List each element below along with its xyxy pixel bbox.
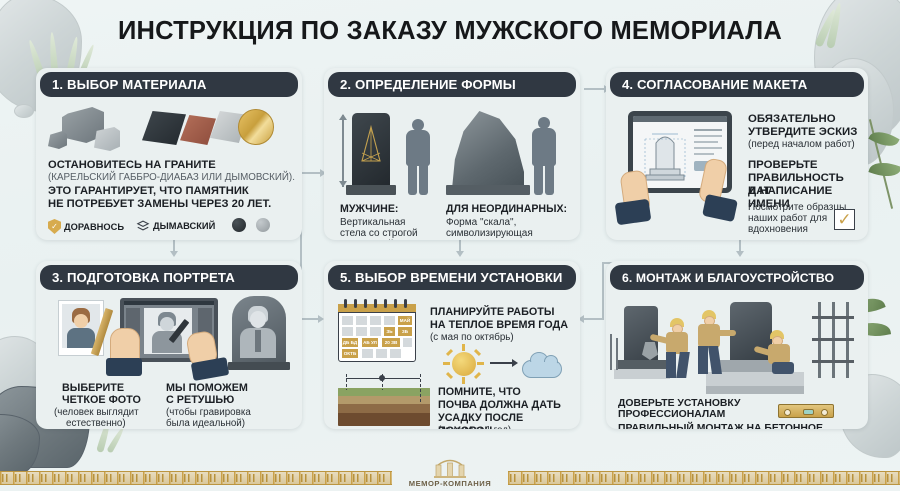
panel-material-body: ОСТАНОВИТЕСЬ НА ГРАНИТЕ (КАРЕЛЬСКИЙ ГАББ… — [36, 97, 302, 240]
calendar-cell-4: ДБ БД — [342, 338, 358, 347]
badge-dymavskiy[interactable]: ДЫМАВСКИЙ — [136, 219, 215, 232]
panel-portrait-body: ВЫБЕРИТЕ ЧЕТКОЕ ФОТО (человек выглядит е… — [36, 290, 302, 429]
panel-timing-body: МАЙ ЗЬ ЗБ ДБ БД АБ УЛ 20 ЗВ ОКТБ ПЛАНИРУ… — [324, 290, 580, 429]
material-swatch-dark — [232, 218, 246, 232]
meander-pattern-right — [508, 471, 900, 485]
shape-col1-heading: МУЖЧИНЕ: — [340, 203, 398, 215]
shape-col2-body-1: Форма "скала", — [446, 217, 516, 229]
portrait-col1-body-2: естественно) — [66, 418, 126, 429]
installation-line-2: ПРОФЕССИОНАЛАМ — [618, 409, 725, 421]
panel-approval-body: ОБЯЗАТЕЛЬНО УТВЕРДИТЕ ЭСКИЗ (перед начал… — [606, 97, 868, 240]
timing-line-5: ПОЧВА ДОЛЖНА ДАТЬ — [438, 399, 561, 412]
panel-approval-header: 4. СОГЛАСОВАНИЕ МАКЕТА — [610, 72, 864, 97]
badge-dymavskiy-label: ДЫМАВСКИЙ — [153, 221, 215, 231]
approval-line-2: УТВЕРДИТЕ ЭСКИЗ — [748, 126, 857, 139]
approval-checkbox[interactable]: ✓ — [834, 209, 855, 230]
panel-shape-header: 2. ОПРЕДЕЛЕНИЕ ФОРМЫ — [328, 72, 576, 97]
shape-col2-heading: ДЛЯ НЕОРДИНАРНЫХ: — [446, 203, 567, 215]
panel-timing: 5. ВЫБОР ВРЕМЕНИ УСТАНОВКИ МАЙ — [324, 261, 580, 429]
connector-1-down — [170, 238, 180, 260]
material-line-3: ЭТО ГАРАНТИРУЕТ, ЧТО ПАМЯТНИК — [48, 185, 249, 198]
portrait-col2-heading-2: С РЕТУШЬЮ — [166, 394, 234, 407]
portrait-col1-heading-1: ВЫБЕРИТЕ — [62, 382, 124, 395]
portrait-col2-heading-1: МЫ ПОМОЖЕМ — [166, 382, 248, 395]
shape-col1-body-1: Вертикальная — [340, 217, 405, 229]
panel-shape-body: МУЖЧИНЕ: Вертикальная стела со строгой г… — [324, 97, 580, 240]
spirit-level-icon — [778, 404, 834, 418]
connector-4-down — [736, 238, 746, 260]
panel-installation-body: ДОВЕРЬТЕ УСТАНОВКУ ПРОФЕССИОНАЛАМ ПРАВИЛ… — [606, 290, 868, 429]
connector-2-down — [456, 238, 466, 260]
timing-line-7: (минимум 1 год) — [438, 425, 511, 429]
portrait-col1-body-1: (человек выглядит — [54, 407, 139, 418]
approval-line-7: Посмотрите образцы — [748, 202, 846, 214]
gold-engraving-icon — [360, 125, 382, 167]
panel-installation: 6. МОНТАЖ И БЛАГОУСТРОЙСТВО — [606, 261, 868, 429]
decor-branch-stem — [869, 119, 893, 209]
approval-line-4: ПРОВЕРЬТЕ — [748, 159, 818, 172]
installation-line-3: ПРАВИЛЬНЫЙ МОНТАЖ НА БЕТОННОЕ — [618, 423, 823, 429]
layers-icon — [136, 219, 150, 232]
decor-rock-top-left-small — [14, 104, 34, 118]
panel-portrait: 3. ПОДГОТОВКА ПОРТРЕТА — [36, 261, 302, 429]
panel-material-header: 1. ВЫБОР МАТЕРИАЛА — [40, 72, 298, 97]
decor-grass-blade-bottom — [106, 426, 125, 453]
approval-line-8: наших работ для — [748, 213, 827, 225]
calendar-cell-3: ЗБ — [398, 327, 412, 336]
material-line-4: НЕ ПОТРЕБУЕТ ЗАМЕНЫ ЧЕРЕЗ 20 ЛЕТ. — [48, 198, 271, 211]
shape-col2-body-3: твердость духа — [446, 239, 517, 240]
approval-line-3: (перед началом работ) — [748, 139, 855, 151]
footer: МЕМОР-КОМПАНИЯ — [0, 457, 900, 491]
panel-shape: 2. ОПРЕДЕЛЕНИЕ ФОРМЫ — [324, 68, 580, 240]
panel-material: 1. ВЫБОР МАТЕРИАЛА ОСТАНОВИТЕСЬ НА ГРАНИ… — [36, 68, 302, 240]
page-title: ИНСТРУКЦИЯ ПО ЗАКАЗУ МУЖСКОГО МЕМОРИАЛА — [0, 17, 900, 46]
calendar-cell-5: АБ УЛ — [362, 338, 378, 347]
shape-col1-body-2: стела со строгой — [340, 228, 418, 240]
material-line-1: ОСТАНОВИТЕСЬ НА ГРАНИТЕ — [48, 159, 216, 172]
portrait-col1-heading-2: ЧЕТКОЕ ФОТО — [62, 394, 141, 407]
calendar-cell-oct: ОКТБ — [342, 349, 358, 358]
shape-col1-body-3: геометрией — [340, 239, 394, 240]
approval-line-9: вдохновения — [748, 224, 808, 236]
brand-logo: МЕМОР-КОМПАНИЯ — [375, 457, 525, 488]
timing-line-3: (с мая по октябрь) — [430, 332, 514, 343]
shape-col2-body-2: символизирующая — [446, 228, 533, 240]
badge-doravnost[interactable]: ✓ ДОРАВНОСЬ — [48, 219, 124, 234]
decor-leaf — [868, 158, 900, 182]
portrait-col2-body-2: была идеальной) — [166, 418, 245, 429]
season-arrow-icon — [490, 362, 514, 364]
portrait-col2-body-1: (чтобы гравировка — [166, 407, 251, 418]
meander-pattern-left — [0, 471, 392, 485]
panel-installation-header: 6. МОНТАЖ И БЛАГОУСТРОЙСТВО — [610, 265, 864, 290]
shield-check-icon: ✓ — [48, 219, 61, 234]
colonnade-arch-icon — [433, 458, 467, 478]
panel-approval: 4. СОГЛАСОВАНИЕ МАКЕТА — [606, 68, 868, 240]
panel-timing-header: 5. ВЫБОР ВРЕМЕНИ УСТАНОВКИ — [328, 265, 576, 290]
timing-line-2: НА ТЕПЛОЕ ВРЕМЯ ГОДА — [430, 319, 568, 332]
badge-doravnost-label: ДОРАВНОСЬ — [64, 222, 124, 232]
approval-line-1: ОБЯЗАТЕЛЬНО — [748, 113, 836, 126]
material-line-2: (КАРЕЛЬСКИЙ ГАББРО-ДИАБАЗ ИЛИ ДЫМОВСКИЙ)… — [48, 172, 295, 183]
decor-leaf — [868, 126, 899, 152]
panel-portrait-header: 3. ПОДГОТОВКА ПОРТРЕТА — [40, 265, 298, 290]
calendar-cell-may: МАЙ — [398, 316, 412, 325]
timing-line-1: ПЛАНИРУЙТЕ РАБОТЫ — [430, 306, 554, 319]
blueprint-monument-icon — [642, 125, 688, 183]
brand-name: МЕМОР-КОМПАНИЯ — [375, 479, 525, 488]
timing-line-4: ПОМНИТЕ, ЧТО — [438, 386, 521, 399]
infographic-poster: ИНСТРУКЦИЯ ПО ЗАКАЗУ МУЖСКОГО МЕМОРИАЛА … — [0, 0, 900, 491]
material-swatch-light — [256, 218, 270, 232]
calendar-cell-2: ЗЬ — [384, 327, 395, 336]
height-arrow-icon — [342, 115, 344, 187]
calendar-cell-6: 20 ЗВ — [382, 338, 400, 347]
